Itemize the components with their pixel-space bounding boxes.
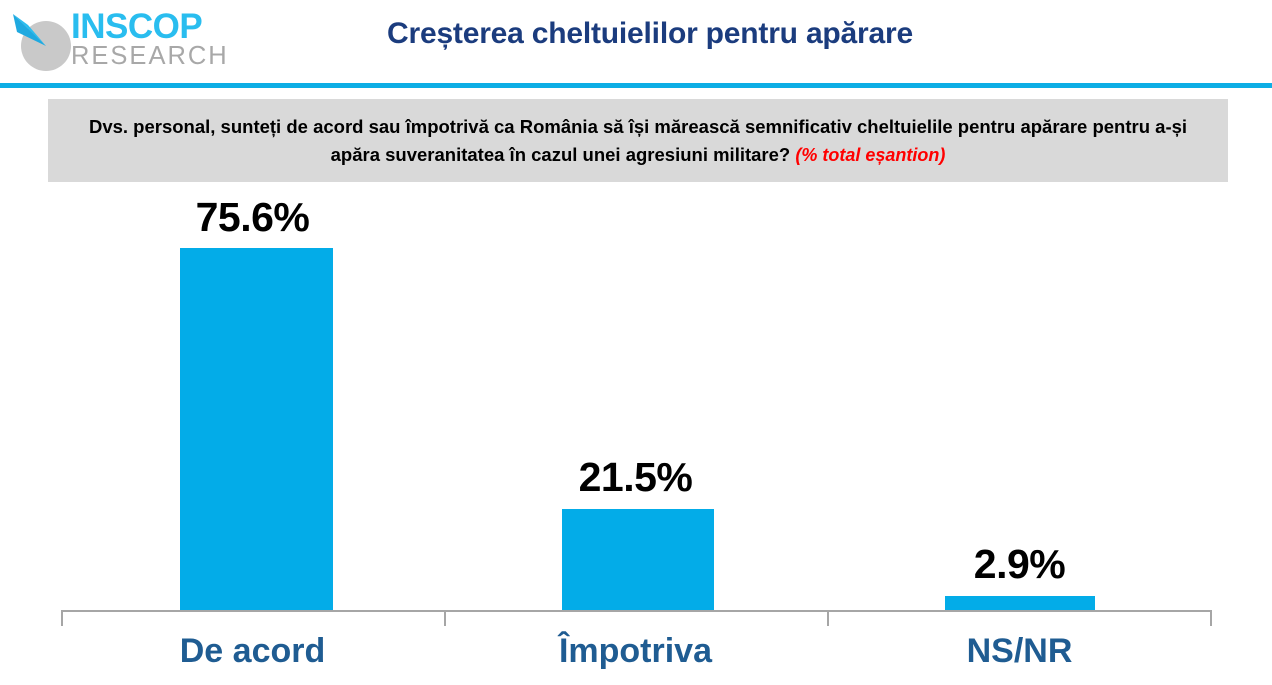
category-label: NS/NR — [827, 630, 1212, 672]
axis-tick-end — [1210, 612, 1212, 626]
header-divider — [0, 83, 1272, 88]
inscop-logo: INSCOP RESEARCH — [12, 8, 237, 74]
logo-secondary-text: RESEARCH — [71, 43, 229, 69]
category-label: De acord — [61, 630, 444, 672]
bar-rect[interactable] — [180, 248, 333, 610]
bar-value-label: 21.5% — [444, 455, 827, 499]
question-body: Dvs. personal, sunteți de acord sau împo… — [89, 116, 1187, 165]
bar-rect[interactable] — [945, 596, 1095, 610]
axis-tick-start — [61, 612, 63, 626]
bar-value-label: 2.9% — [827, 542, 1212, 586]
question-note: (% total eșantion) — [795, 145, 945, 165]
category-label: Împotriva — [444, 630, 827, 672]
page-header: INSCOP RESEARCH Creșterea cheltuielilor … — [0, 0, 1272, 84]
bar-value-label: 75.6% — [61, 195, 444, 239]
axis-tick-1 — [444, 612, 446, 626]
gauge-needle-icon — [12, 13, 74, 75]
bar-rect[interactable] — [562, 509, 714, 610]
bar-chart: 75.6% De acord 21.5% Împotriva 2.9% NS/N… — [0, 185, 1272, 685]
x-axis-line — [61, 610, 1212, 612]
axis-tick-2 — [827, 612, 829, 626]
question-banner: Dvs. personal, sunteți de acord sau împo… — [48, 99, 1228, 182]
logo-wordmark: INSCOP RESEARCH — [71, 10, 229, 69]
logo-primary-text: INSCOP — [71, 10, 229, 43]
question-text: Dvs. personal, sunteți de acord sau împo… — [57, 113, 1219, 169]
page-title: Creșterea cheltuielilor pentru apărare — [255, 17, 1045, 51]
